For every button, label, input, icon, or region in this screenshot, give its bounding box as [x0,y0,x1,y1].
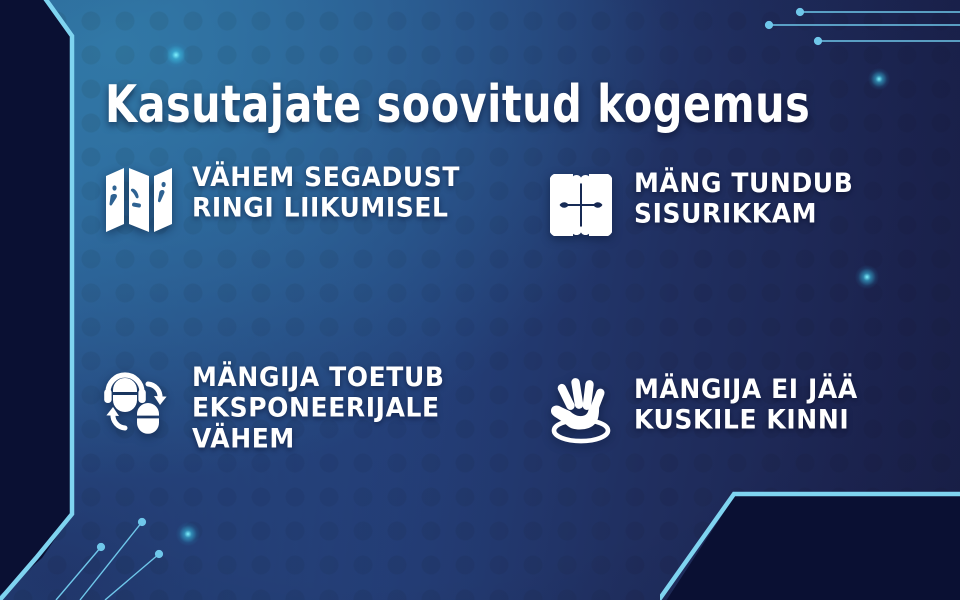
feature-item-game-feels-richer: MÄNG TUNDUB SISURIKKAM [520,158,930,338]
hand-in-hole-icon [542,370,620,452]
bottom-right-accent-panel-border [660,490,960,600]
feature-label: MÄNGIJA EI JÄÄ KUSKILE KINNI [634,370,930,435]
slide-canvas: Kasutajate soovitud kogemus [0,0,960,600]
feature-label: VÄHEM SEGADUST RINGI LIIKUMISEL [192,158,520,223]
glow-dot-icon [868,68,890,90]
puzzle-pieces-icon [542,164,620,246]
feature-item-player-never-gets-stuck: MÄNGIJA EI JÄÄ KUSKILE KINNI [520,338,930,452]
page-title: Kasutajate soovitud kogemus [105,74,810,134]
feature-item-player-relies-less-on-host: MÄNGIJA TOETUB EKSPONEERIJALE VÄHEM [100,338,520,452]
feature-label: MÄNGIJA TOETUB EKSPONEERIJALE VÄHEM [192,358,520,454]
glow-dot-icon [176,522,200,546]
folded-map-icon [100,158,178,240]
left-accent-panel-border [0,0,82,600]
feature-item-less-confusion-moving: VÄHEM SEGADUST RINGI LIIKUMISEL [100,158,520,338]
feature-list: VÄHEM SEGADUST RINGI LIIKUMISEL MÄNG [100,158,930,452]
feature-label: MÄNG TUNDUB SISURIKKAM [634,164,930,229]
glow-dot-icon [163,42,189,68]
support-handover-icon [100,358,178,440]
